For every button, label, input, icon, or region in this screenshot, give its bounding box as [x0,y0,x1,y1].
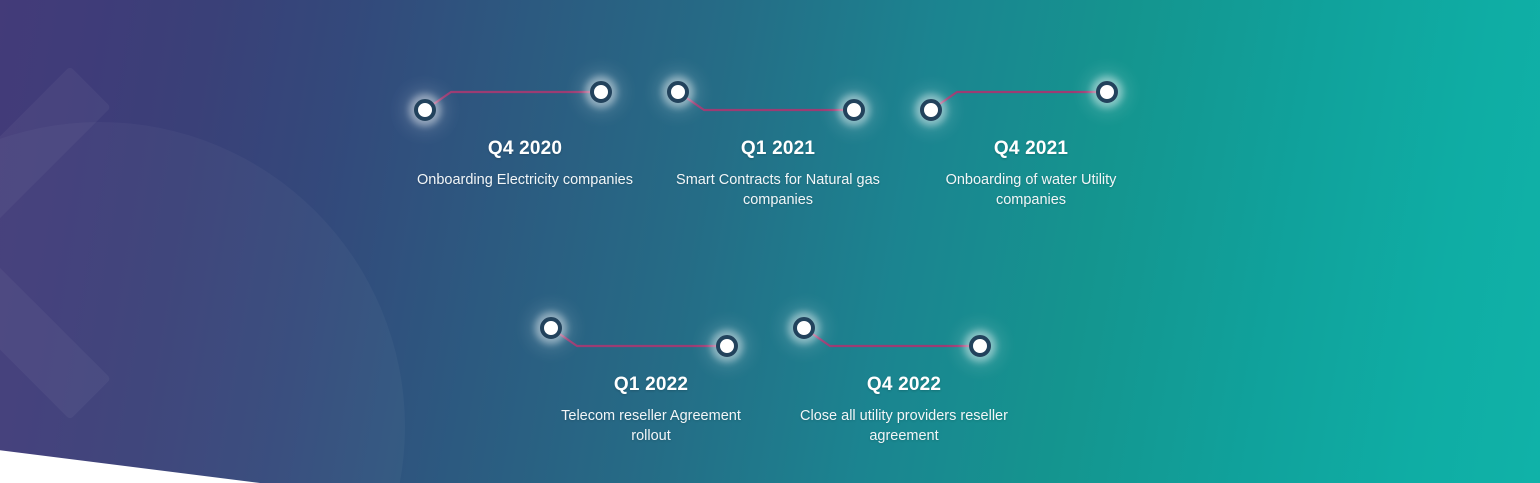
milestone-period: Q4 2022 [784,374,1024,396]
milestone-node-start[interactable] [667,81,689,103]
milestone-label-block: Q1 2021Smart Contracts for Natural gas c… [658,138,898,210]
milestone-description: Smart Contracts for Natural gas companie… [658,170,898,210]
milestone-node-end[interactable] [969,335,991,357]
milestone-node-start[interactable] [920,99,942,121]
milestone-label-block: Q4 2022Close all utility providers resel… [784,374,1024,446]
arrow-bar-horizontal [0,202,111,420]
milestone-period: Q1 2022 [531,374,771,396]
decorative-arrow-watermark [0,66,247,420]
milestone-description: Onboarding Electricity companies [405,170,645,190]
milestone-node-end[interactable] [590,81,612,103]
milestone-description: Onboarding of water Utility companies [911,170,1151,210]
milestone-description: Telecom reseller Agreement rollout [531,406,771,446]
milestone-label-block: Q4 2020Onboarding Electricity companies [405,138,645,190]
roadmap-timeline-canvas: Q4 2020Onboarding Electricity companiesQ… [0,0,1540,483]
milestone-label-block: Q1 2022Telecom reseller Agreement rollou… [531,374,771,446]
milestone-period: Q4 2021 [911,138,1151,160]
milestone-label-block: Q4 2021Onboarding of water Utility compa… [911,138,1151,210]
milestone-node-start[interactable] [414,99,436,121]
milestone-period: Q4 2020 [405,138,645,160]
milestone-node-end[interactable] [716,335,738,357]
milestone-node-end[interactable] [843,99,865,121]
arrow-bar-vertical [0,66,111,284]
milestone-node-end[interactable] [1096,81,1118,103]
milestone-description: Close all utility providers reseller agr… [784,406,1024,446]
milestone-period: Q1 2021 [658,138,898,160]
milestone-node-start[interactable] [540,317,562,339]
bottom-white-wedge [0,443,260,483]
decorative-circle-watermark [0,122,405,483]
milestone-node-start[interactable] [793,317,815,339]
